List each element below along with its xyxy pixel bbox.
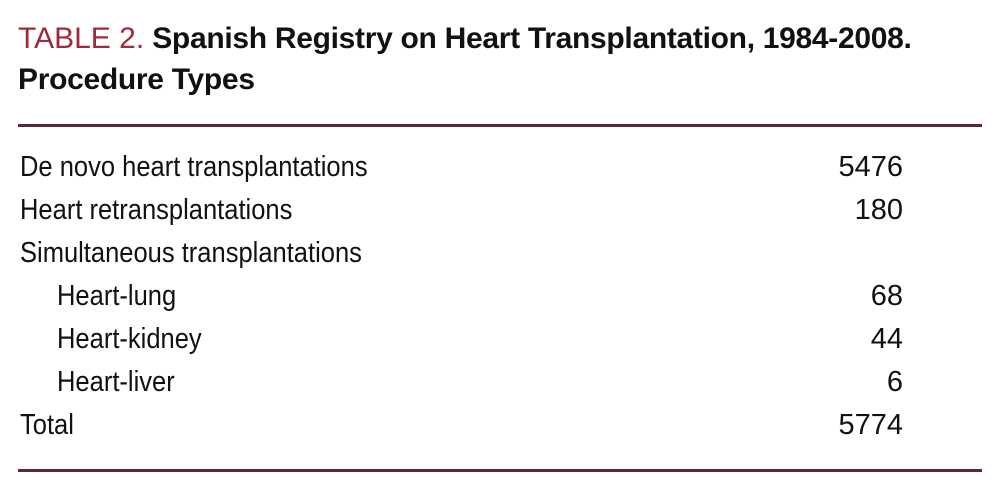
row-label: Total <box>20 404 74 447</box>
table-number-label: TABLE 2. <box>18 22 144 55</box>
row-label: Heart-kidney <box>57 318 202 361</box>
table-title: Spanish Registry on Heart Transplantatio… <box>18 22 912 96</box>
row-label: Simultaneous transplantations <box>20 232 362 275</box>
table-row: Simultaneous transplantations <box>0 232 1004 275</box>
row-value: 5476 <box>600 146 903 189</box>
table-row: Heart retransplantations180 <box>0 189 1004 232</box>
row-value: 68 <box>600 275 903 318</box>
row-label: De novo heart transplantations <box>20 146 368 189</box>
table-figure: TABLE 2. Spanish Registry on Heart Trans… <box>0 0 1004 504</box>
table-row: Heart-liver6 <box>0 361 1004 404</box>
table-top-rule <box>18 124 982 127</box>
row-value: 180 <box>600 189 903 232</box>
table-row: Total5774 <box>0 404 1004 447</box>
table-row: De novo heart transplantations5476 <box>0 146 1004 189</box>
row-value: 5774 <box>600 404 903 447</box>
table-body: De novo heart transplantations5476Heart … <box>0 146 1004 447</box>
row-label: Heart retransplantations <box>20 189 292 232</box>
row-label: Heart-liver <box>57 361 175 404</box>
table-bottom-rule <box>18 469 982 472</box>
table-row: Heart-kidney44 <box>0 318 1004 361</box>
row-label: Heart-lung <box>57 275 176 318</box>
row-value: 6 <box>600 361 903 404</box>
table-row: Heart-lung68 <box>0 275 1004 318</box>
row-value: 44 <box>600 318 903 361</box>
table-caption: TABLE 2. Spanish Registry on Heart Trans… <box>18 18 966 100</box>
